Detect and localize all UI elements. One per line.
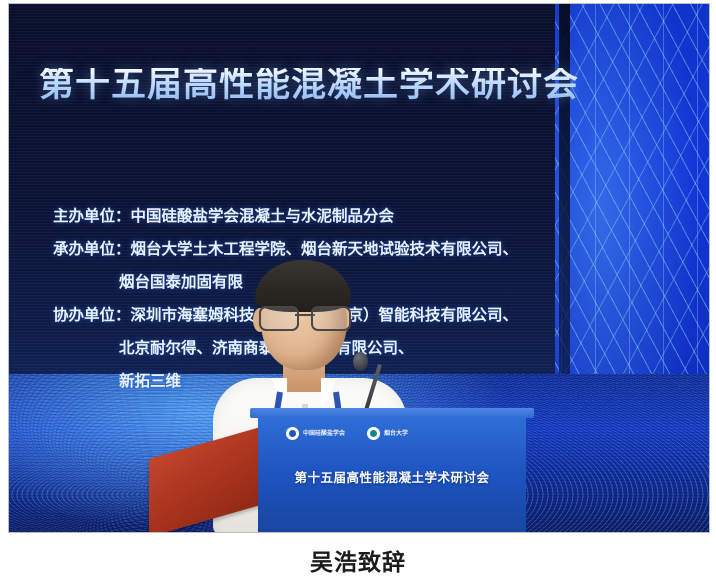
conference-photo: 第十五届高性能混凝土学术研讨会 主办单位：中国硅酸盐学会混凝土与水泥制品分会 承… — [8, 3, 710, 533]
organizer-line-host: 主办单位：中国硅酸盐学会混凝土与水泥制品分会 — [53, 200, 653, 233]
glasses-lens-right — [311, 306, 351, 331]
podium-top-edge — [250, 408, 534, 418]
logo-yantai-university: 烟台大学 — [367, 427, 408, 440]
organizer-line-undertaker: 承办单位：烟台大学土木工程学院、烟台新天地试验技术有限公司、 — [53, 233, 653, 266]
logo-label-yantai-university: 烟台大学 — [384, 430, 408, 437]
podium-logo-row: 中国硅酸盐学会 烟台大学 — [286, 427, 408, 440]
podium-banner-title: 第十五届高性能混凝土学术研讨会 — [258, 467, 526, 486]
yantai-university-icon — [367, 427, 380, 440]
photo-content: 第十五届高性能混凝土学术研讨会 主办单位：中国硅酸盐学会混凝土与水泥制品分会 承… — [9, 4, 709, 532]
glasses-lens-left — [259, 306, 299, 331]
logo-ceramic-society: 中国硅酸盐学会 — [286, 427, 345, 440]
photo-caption: 吴浩致辞 — [0, 543, 716, 577]
screen-conference-title: 第十五届高性能混凝土学术研讨会 — [39, 68, 579, 103]
page-root: 第十五届高性能混凝土学术研讨会 主办单位：中国硅酸盐学会混凝土与水泥制品分会 承… — [0, 0, 716, 584]
speaker-glasses — [259, 306, 351, 328]
podium: 中国硅酸盐学会 烟台大学 第十五届高性能混凝土学术研讨会 — [258, 415, 526, 532]
speaker-hair — [255, 260, 351, 312]
ceramic-society-icon — [286, 427, 299, 440]
logo-label-ceramic-society: 中国硅酸盐学会 — [303, 430, 345, 437]
microphone-head — [353, 352, 368, 371]
